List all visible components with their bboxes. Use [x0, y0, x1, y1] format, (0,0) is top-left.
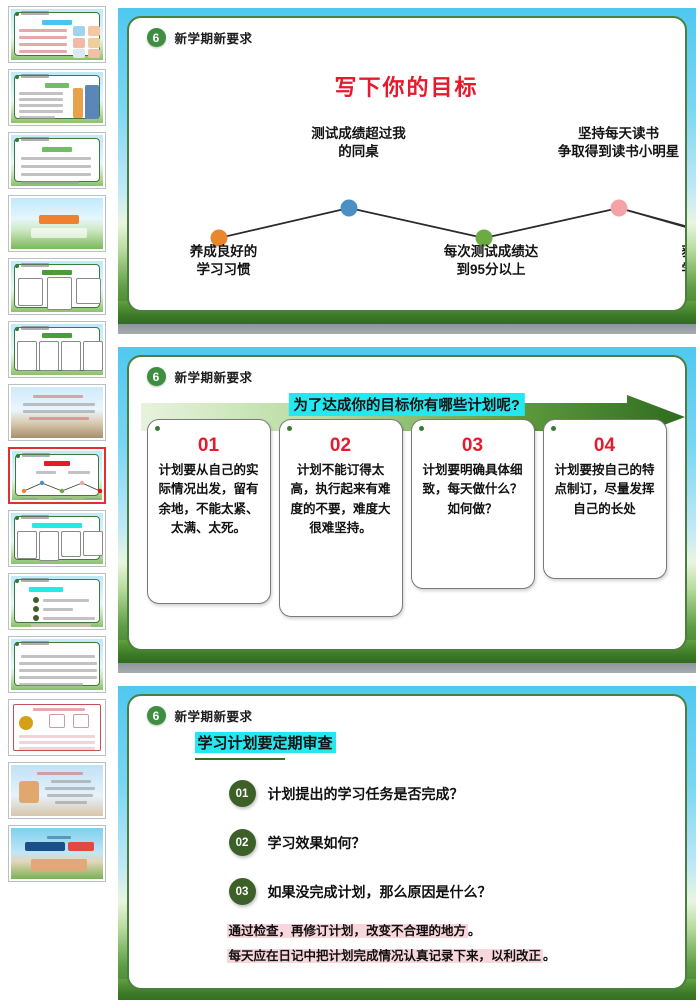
question-text: 学习效果如何？ [268, 833, 366, 853]
card-text: 计划不能订得太高，执行起来有难度的不要，难度大很难坚持。 [286, 461, 396, 539]
list-item[interactable] [8, 6, 106, 63]
title-underline [195, 758, 285, 760]
section-number-badge: 6 [147, 367, 166, 386]
list-item[interactable] [8, 258, 106, 315]
section-title: 新学期新要求 [175, 367, 253, 386]
footer-plain: 。 [543, 949, 556, 963]
footer-highlight: 通过检查，再修订计划，改变不合理的地方 [227, 924, 469, 938]
presentation-editor: 6 新学期新要求 写下你的目标 养成良好的 学习习惯 测 [0, 0, 700, 1000]
question-list: 01 计划提出的学习任务是否完成？ 02 学习效果如何？ 03 如果没完成计划，… [229, 780, 665, 927]
slide-review[interactable]: 6 新学期新要求 学习计划要定期审查 01 计划提出的学习任务是否完成？ 02 … [118, 686, 696, 1000]
slide-header: 6 新学期新要求 [147, 706, 253, 725]
plan-card[interactable]: 02 计划不能订得太高，执行起来有难度的不要，难度大很难坚持。 [279, 419, 403, 617]
footer-plain: 。 [468, 924, 481, 938]
slide-content-card: 6 新学期新要求 学习计划要定期审查 01 计划提出的学习任务是否完成？ 02 … [127, 694, 687, 990]
footer-line: 通过检查，再修订计划，改变不合理的地方。 [227, 920, 556, 940]
page-title: 写下你的目标 [129, 70, 685, 102]
list-item-selected[interactable] [8, 447, 106, 504]
question-text: 如果没完成计划，那么原因是什么？ [268, 882, 492, 902]
chart-label-5: 获得一张 学习奖状 [649, 243, 687, 279]
slide-header: 6 新学期新要求 [147, 28, 253, 47]
list-item[interactable] [8, 69, 106, 126]
slide-content-card: 6 新学期新要求 写下你的目标 养成良好的 学习习惯 测 [127, 16, 687, 312]
list-item[interactable] [8, 195, 106, 252]
card-dot-icon [155, 426, 160, 431]
card-text: 计划要按自己的特点制订，尽量发挥自己的长处 [550, 461, 660, 519]
slide-thumbnail-sidebar[interactable] [0, 0, 113, 1000]
section-title: 新学期新要求 [175, 28, 253, 47]
card-number: 02 [286, 436, 396, 455]
plan-card[interactable]: 03 计划要明确具体细致，每天做什么？如何做？ [411, 419, 535, 589]
question-number-badge: 02 [229, 829, 256, 856]
list-item[interactable] [8, 384, 106, 441]
road-decoration [118, 663, 696, 673]
page-title: 学习计划要定期审查 [195, 732, 336, 753]
list-item[interactable]: 02 学习效果如何？ [229, 829, 665, 856]
chart-point-2 [340, 200, 357, 217]
list-item[interactable] [8, 636, 106, 693]
card-text: 计划要从自己的实际情况出发，留有余地，不能太紧、太满、太死。 [154, 461, 264, 539]
list-item[interactable]: 03 如果没完成计划，那么原因是什么？ [229, 878, 665, 905]
section-number-badge: 6 [147, 28, 166, 47]
slide-content-card: 6 新学期新要求 [127, 355, 687, 651]
footer-notes: 通过检查，再修订计划，改变不合理的地方。 每天应在日记中把计划完成情况认真记录下… [227, 920, 556, 970]
slide-goals[interactable]: 6 新学期新要求 写下你的目标 养成良好的 学习习惯 测 [118, 8, 696, 334]
plan-cards-row: 01 计划要从自己的实际情况出发，留有余地，不能太紧、太满、太死。 02 计划不… [147, 419, 667, 619]
footer-line: 每天应在日记中把计划完成情况认真记录下来，以利改正。 [227, 945, 556, 965]
footer-highlight: 每天应在日记中把计划完成情况认真记录下来，以利改正 [227, 949, 544, 963]
card-dot-icon [551, 426, 556, 431]
chart-label-2: 测试成绩超过我 的同桌 [269, 125, 449, 161]
page-title-group: 学习计划要定期审查 [195, 732, 336, 760]
card-number: 01 [154, 436, 264, 455]
banner-title: 为了达成你的目标你有哪些计划呢? [288, 393, 524, 416]
list-item[interactable] [8, 573, 106, 630]
list-item[interactable] [8, 132, 106, 189]
road-decoration [118, 324, 696, 334]
list-item[interactable] [8, 321, 106, 378]
card-dot-icon [287, 426, 292, 431]
chart-label-1: 养成良好的 学习习惯 [149, 243, 299, 279]
card-number: 04 [550, 436, 660, 455]
question-text: 计划提出的学习任务是否完成？ [268, 784, 464, 804]
list-item[interactable] [8, 825, 106, 882]
chart-label-4: 坚持每天读书 争取得到读书小明星 [519, 125, 687, 161]
goal-line-chart: 养成良好的 学习习惯 测试成绩超过我 的同桌 每次测试成绩达 到95分以上 坚持… [129, 113, 685, 303]
section-title: 新学期新要求 [175, 706, 253, 725]
chart-point-4 [610, 200, 627, 217]
section-number-badge: 6 [147, 706, 166, 725]
question-number-badge: 03 [229, 878, 256, 905]
list-item[interactable] [8, 699, 106, 756]
card-number: 03 [418, 436, 528, 455]
chart-label-3: 每次测试成绩达 到95分以上 [404, 243, 579, 279]
list-item[interactable] [8, 762, 106, 819]
slide-header: 6 新学期新要求 [147, 367, 253, 386]
card-text: 计划要明确具体细致，每天做什么？如何做？ [418, 461, 528, 519]
list-item[interactable]: 01 计划提出的学习任务是否完成？ [229, 780, 665, 807]
plan-card[interactable]: 04 计划要按自己的特点制订，尽量发挥自己的长处 [543, 419, 667, 579]
card-dot-icon [419, 426, 424, 431]
plan-card[interactable]: 01 计划要从自己的实际情况出发，留有余地，不能太紧、太满、太死。 [147, 419, 271, 604]
slide-canvas-area: 6 新学期新要求 写下你的目标 养成良好的 学习习惯 测 [113, 0, 700, 1000]
slide-plans[interactable]: 6 新学期新要求 [118, 347, 696, 673]
question-number-badge: 01 [229, 780, 256, 807]
list-item[interactable] [8, 510, 106, 567]
